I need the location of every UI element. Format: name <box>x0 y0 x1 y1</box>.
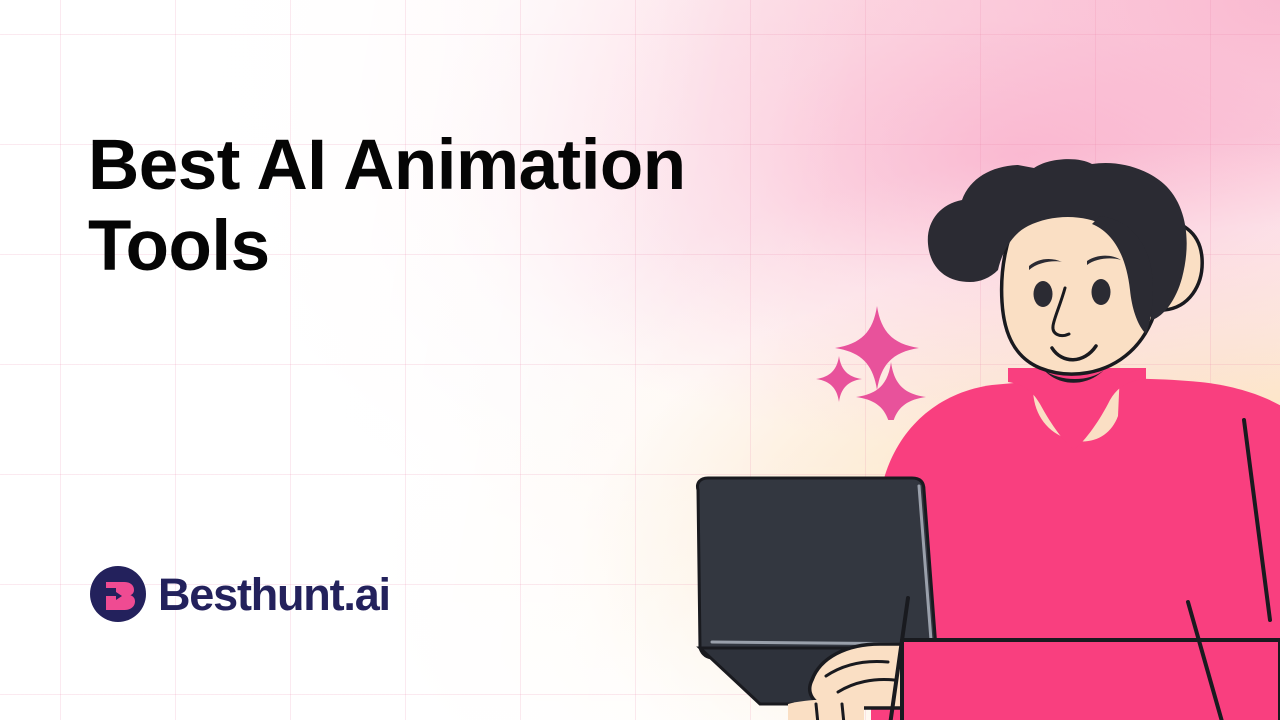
sparkle-icon-medium <box>856 362 926 420</box>
fingertips <box>788 700 864 720</box>
brand-logo[interactable]: Besthunt.ai <box>90 566 390 622</box>
besthunt-b-logo-icon <box>90 566 146 622</box>
fingertip-line-2 <box>842 704 844 720</box>
laptop-screen <box>697 478 936 658</box>
eye-left <box>1034 281 1053 307</box>
sparkle-icon-small <box>816 356 862 402</box>
sparkle-group <box>815 300 945 420</box>
eye-right <box>1092 279 1111 305</box>
slide-canvas: Best AI Animation Tools <box>0 0 1280 720</box>
illustration <box>640 120 1280 720</box>
brand-name: Besthunt.ai <box>158 572 390 617</box>
fingertip-line-1 <box>816 704 818 720</box>
sweater-cuff <box>902 640 1280 720</box>
